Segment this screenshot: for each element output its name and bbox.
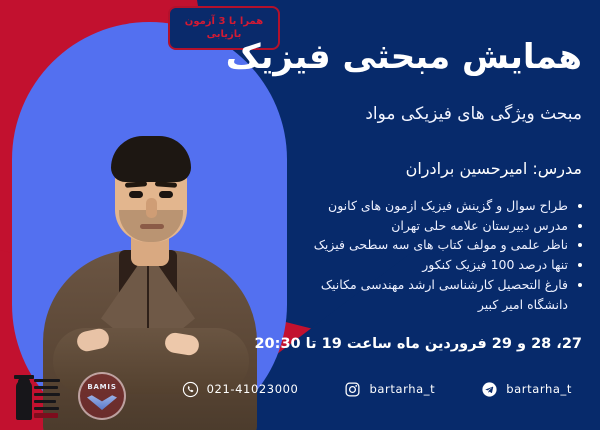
- credentials-list: طراح سوال و گزینش فیزیک ازمون های کانون …: [152, 196, 582, 315]
- contact-telegram[interactable]: bartarha_t: [481, 381, 572, 398]
- list-item-continuation: دانشگاه امیر کبیر: [152, 295, 582, 315]
- list-item: فارغ التحصیل کارشناسی ارشد مهندسی مکانیک: [152, 275, 582, 295]
- logo-text-line: [34, 393, 60, 396]
- telegram-handle: bartarha_t: [506, 382, 572, 396]
- phone-icon: [182, 381, 199, 398]
- logo-text-line: [34, 379, 60, 382]
- list-item: طراح سوال و گزینش فیزیک ازمون های کانون: [152, 196, 582, 216]
- logo-text-line: [34, 400, 56, 403]
- event-datetime: 27، 28 و 29 فروردین ماه ساعت 19 تا 20:30: [152, 336, 582, 352]
- instagram-handle: bartarha_t: [369, 382, 435, 396]
- logo-figure-body: [16, 380, 32, 420]
- logo-group: BAMIS: [14, 372, 126, 420]
- content-column: همایش مبحثی فیزیک مبحث ویژگی های فیزیکی …: [152, 38, 582, 352]
- instructor-name: مدرس: امیرحسین برادران: [152, 159, 582, 180]
- list-item: ناظر علمی و مولف کتاب های سه سطحی فیزیک: [152, 235, 582, 255]
- phone-number: 021-41023000: [207, 382, 299, 396]
- wing-icon: [87, 394, 117, 410]
- poster-title: همایش مبحثی فیزیک: [152, 38, 582, 77]
- logo-text-line: [34, 386, 58, 389]
- bamis-emblem-logo: BAMIS: [78, 372, 126, 420]
- poster-subtitle: مبحث ویژگی های فیزیکی مواد: [152, 103, 582, 125]
- list-item: مدرس دبیرستان علامه حلی تهران: [152, 216, 582, 236]
- logo-red-underline: [34, 413, 58, 418]
- graduate-figure-logo: [14, 372, 66, 420]
- poster-root: همرا با 3 آزمون بازیابی همایش مبحثی فیزی…: [0, 0, 600, 430]
- portrait-eye-left: [129, 191, 143, 198]
- list-item: تنها درصد 100 فیزیک کنکور: [152, 255, 582, 275]
- telegram-icon: [481, 381, 498, 398]
- contact-phone[interactable]: 021-41023000: [182, 381, 299, 398]
- instagram-icon: [344, 381, 361, 398]
- contact-instagram[interactable]: bartarha_t: [344, 381, 435, 398]
- logo-text-line: [34, 407, 59, 410]
- badge-line-1: همرا با 3 آزمون: [185, 15, 263, 29]
- bamis-logo-text: BAMIS: [80, 383, 124, 391]
